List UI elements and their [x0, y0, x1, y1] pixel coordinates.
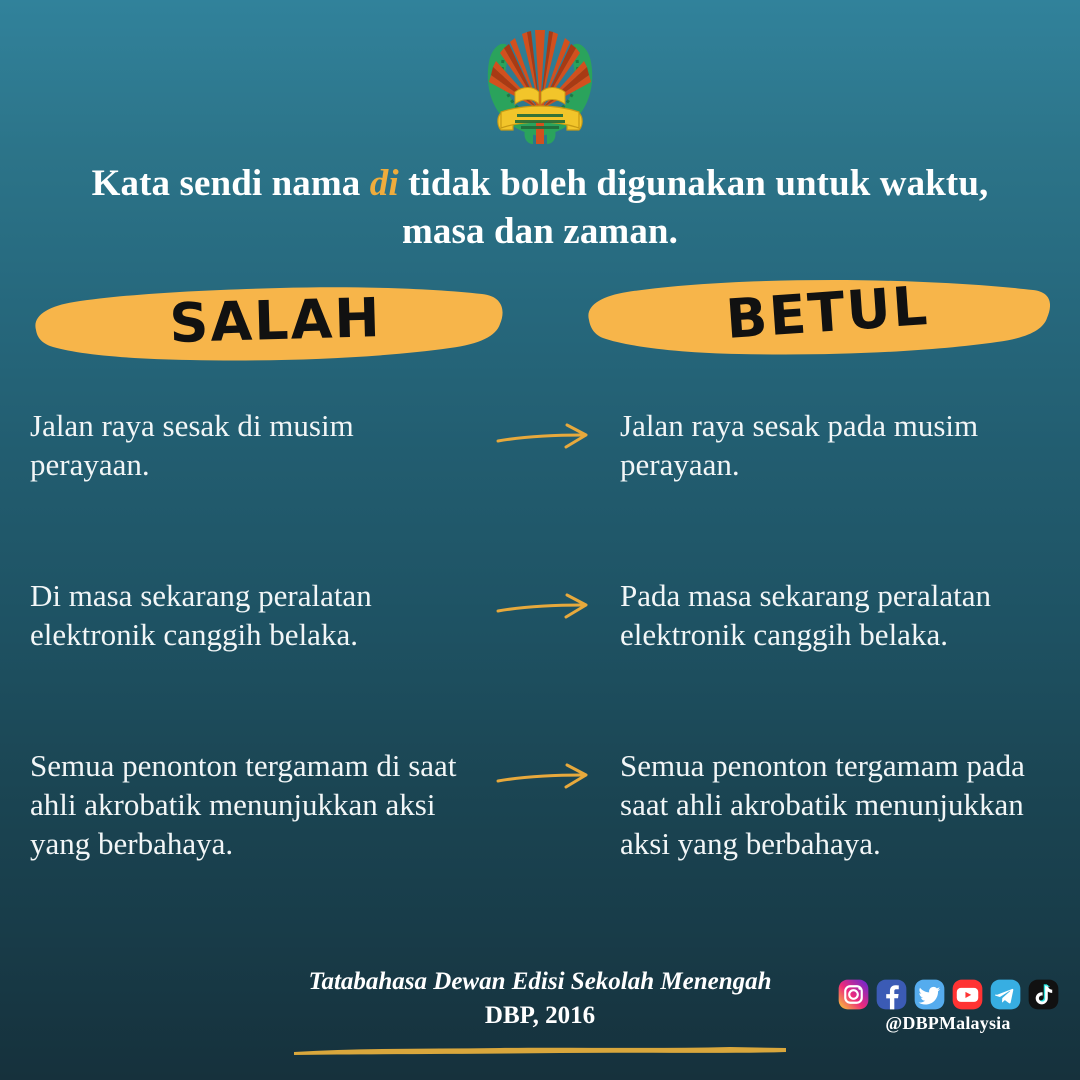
social-handle: @DBPMalaysia — [834, 1013, 1062, 1034]
instagram-icon[interactable] — [837, 978, 870, 1011]
row-arrow — [470, 746, 620, 798]
column-header-salah: SALAH — [30, 272, 505, 372]
arrow-right-icon — [495, 422, 595, 458]
column-headers: SALAH BETUL — [0, 272, 1080, 382]
dbp-logo — [465, 18, 615, 148]
title-text-before: Kata sendi nama — [92, 163, 370, 204]
youtube-icon[interactable] — [951, 978, 984, 1011]
column-header-betul: BETUL — [585, 272, 1050, 372]
title-highlight-word: di — [370, 163, 399, 204]
row-arrow — [470, 406, 620, 458]
row-arrow — [470, 576, 620, 628]
telegram-icon[interactable] — [989, 978, 1022, 1011]
arrow-right-icon — [495, 592, 595, 628]
correct-sentence: Pada masa sekarang peralatan elektronik … — [620, 576, 1080, 654]
social-icon-row — [834, 978, 1062, 1011]
footer-divider — [290, 1043, 790, 1057]
comparison-list: Jalan raya sesak di musim perayaan. Jala… — [0, 406, 1080, 936]
facebook-icon[interactable] — [875, 978, 908, 1011]
correct-sentence: Semua penonton tergamam pada saat ahli a… — [620, 746, 1080, 863]
wrong-sentence: Di masa sekarang peralatan elektronik ca… — [30, 576, 470, 654]
logo-container — [0, 18, 1080, 148]
twitter-icon[interactable] — [913, 978, 946, 1011]
comparison-row: Jalan raya sesak di musim perayaan. Jala… — [0, 406, 1080, 576]
wrong-sentence: Semua penonton tergamam di saat ahli akr… — [30, 746, 470, 863]
tiktok-icon[interactable] — [1027, 978, 1060, 1011]
page-title: Kata sendi nama di tidak boleh digunakan… — [0, 160, 1080, 256]
arrow-right-icon — [495, 762, 595, 798]
social-links: @DBPMalaysia — [834, 978, 1062, 1034]
correct-sentence: Jalan raya sesak pada musim perayaan. — [620, 406, 1080, 484]
comparison-row: Semua penonton tergamam di saat ahli akr… — [0, 746, 1080, 936]
title-text-after: tidak boleh digunakan untuk waktu, masa … — [399, 163, 989, 252]
comparison-row: Di masa sekarang peralatan elektronik ca… — [0, 576, 1080, 746]
wrong-sentence: Jalan raya sesak di musim perayaan. — [30, 406, 470, 484]
